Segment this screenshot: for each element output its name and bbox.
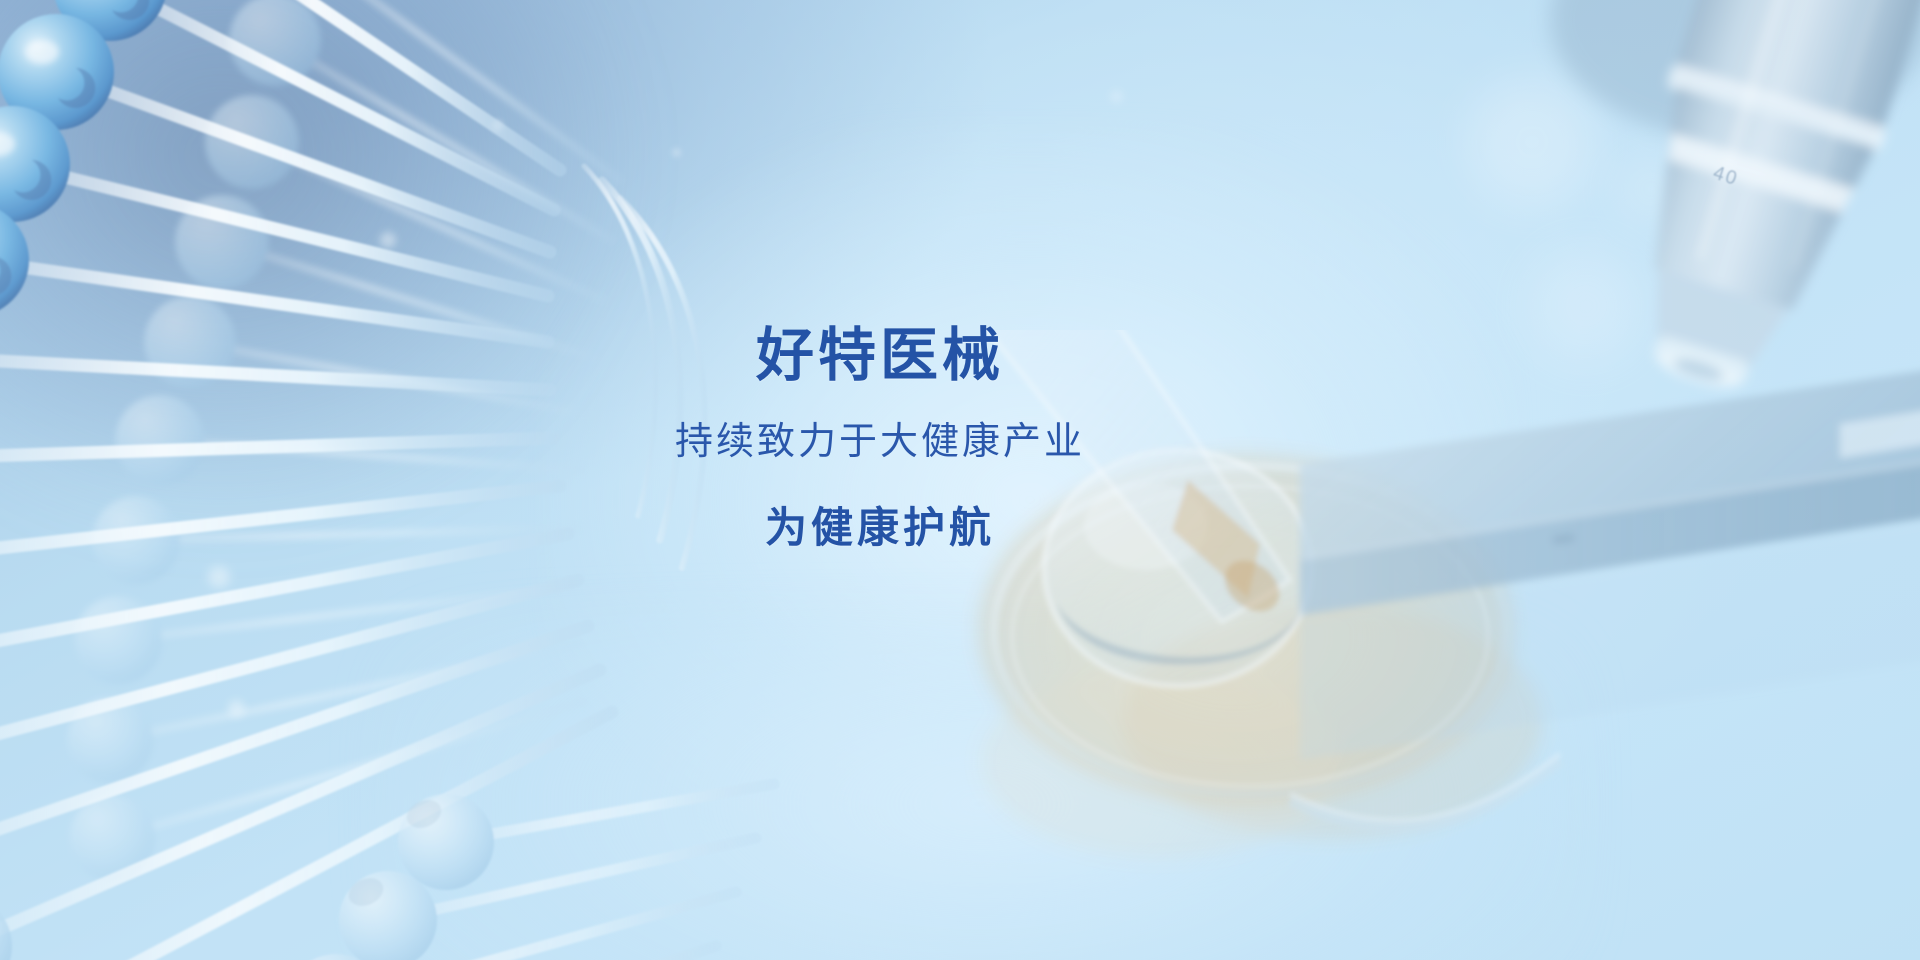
page-title: 好特医械 (675, 327, 1085, 385)
lab-bench-graphic (1240, 360, 1920, 880)
banner-subtitle-1: 持续致力于大健康产业 (675, 423, 1085, 461)
hero-banner: 40 (0, 0, 1920, 960)
banner-subtitle-2: 为健康护航 (675, 507, 1085, 549)
